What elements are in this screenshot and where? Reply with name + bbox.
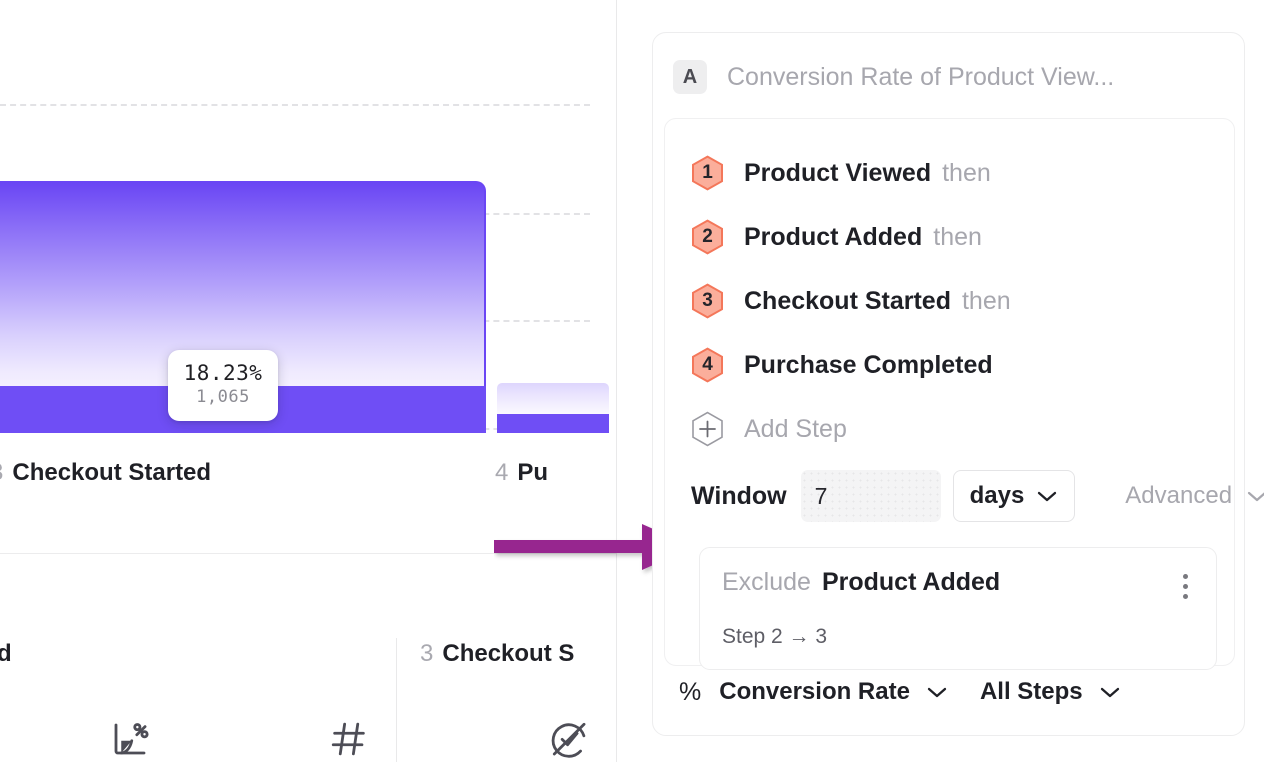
metric-dropdown[interactable]: Conversion Rate [719, 678, 948, 706]
bar-value-segment [497, 414, 609, 433]
panel-footer: % Conversion Rate All Steps [679, 671, 1121, 713]
panel-title[interactable]: Conversion Rate of Product View... [727, 63, 1114, 92]
percent-chart-icon[interactable] [109, 718, 151, 762]
add-step-row[interactable]: Add Step [691, 397, 1208, 461]
window-value-input[interactable] [801, 470, 941, 522]
exclude-rule-header: Exclude Product Added [722, 568, 1194, 605]
legend-label-2: d [0, 640, 12, 668]
add-step-label: Add Step [744, 415, 847, 444]
step-name: Checkout Started [744, 287, 951, 316]
step-row[interactable]: 2 Product Added then [691, 205, 1208, 269]
step-name: Purchase Completed [744, 351, 993, 380]
bar-ghost-segment [497, 383, 609, 414]
window-row: Window days Advanced [691, 463, 1208, 529]
circle-check-icon[interactable] [548, 718, 590, 762]
vertical-divider-small [396, 638, 397, 762]
step-number-hexagon-icon: 4 [691, 347, 724, 383]
exclude-rule-card[interactable]: Exclude Product Added Step 2 → 3 [699, 547, 1217, 670]
legend-label-3: 3Checkout S [420, 640, 574, 668]
steps-card: 1 Product Viewed then 2 Product Added th… [664, 118, 1235, 666]
horizontal-divider [0, 553, 617, 554]
step-connector: then [962, 287, 1011, 316]
tooltip-count: 1,065 [196, 385, 250, 410]
step-connector: then [933, 223, 982, 252]
exclude-step-range: Step 2 → 3 [722, 625, 1194, 649]
gridline [0, 104, 590, 106]
metric-label: Conversion Rate [719, 678, 910, 706]
x-axis-text: Checkout Started [12, 459, 211, 486]
scope-label: All Steps [980, 678, 1083, 706]
vertical-divider-main [616, 0, 617, 762]
step-number-hexagon-icon: 3 [691, 283, 724, 319]
add-step-hexagon-icon [691, 411, 724, 447]
funnel-chart-pane: 18.23% 1,065 3Checkout Started 4Pu d 3Ch… [0, 0, 617, 762]
funnel-config-panel: A Conversion Rate of Product View... 1 P… [652, 32, 1245, 736]
advanced-label: Advanced [1125, 482, 1232, 510]
window-unit-label: days [970, 482, 1025, 510]
step-name: Product Viewed [744, 159, 931, 188]
legend-text: Checkout S [442, 640, 574, 667]
series-badge[interactable]: A [673, 60, 707, 94]
step-row[interactable]: 4 Purchase Completed [691, 333, 1208, 397]
chevron-down-icon [1246, 482, 1264, 510]
step-name: Product Added [744, 223, 922, 252]
legend-text: d [0, 640, 12, 667]
x-axis-label-4: 4Pu [495, 459, 548, 487]
x-axis-text: Pu [517, 459, 548, 486]
percent-sign-icon: % [679, 678, 701, 707]
app-root: 18.23% 1,065 3Checkout Started 4Pu d 3Ch… [0, 0, 1264, 762]
scope-dropdown[interactable]: All Steps [980, 678, 1121, 706]
kebab-menu-icon[interactable] [1177, 568, 1194, 605]
tooltip-percent: 18.23% [184, 361, 263, 385]
step-number-hexagon-icon: 1 [691, 155, 724, 191]
chevron-down-icon [1099, 678, 1121, 706]
x-axis-label-3: 3Checkout Started [0, 459, 211, 487]
panel-header: A Conversion Rate of Product View... [653, 33, 1244, 121]
step-number: 2 [702, 226, 713, 248]
exclude-prefix: Exclude [722, 568, 811, 597]
advanced-dropdown[interactable]: Advanced [1125, 482, 1264, 510]
x-axis-index: 3 [0, 459, 3, 486]
window-label: Window [691, 482, 787, 511]
chart-tooltip: 18.23% 1,065 [168, 350, 278, 421]
chevron-down-icon [1036, 482, 1058, 510]
x-axis-index: 4 [495, 459, 508, 486]
funnel-bar-purchase-completed[interactable] [497, 383, 609, 433]
step-connector: then [942, 159, 991, 188]
step-row[interactable]: 1 Product Viewed then [691, 141, 1208, 205]
chevron-down-icon [926, 678, 948, 706]
step-number-hexagon-icon: 2 [691, 219, 724, 255]
hash-icon[interactable] [328, 718, 370, 762]
step-number: 1 [702, 162, 713, 184]
legend-index: 3 [420, 640, 433, 667]
step-number: 3 [702, 290, 713, 312]
exclude-event-name: Product Added [822, 568, 1000, 597]
window-unit-dropdown[interactable]: days [953, 470, 1076, 522]
step-number: 4 [702, 354, 713, 376]
step-row[interactable]: 3 Checkout Started then [691, 269, 1208, 333]
